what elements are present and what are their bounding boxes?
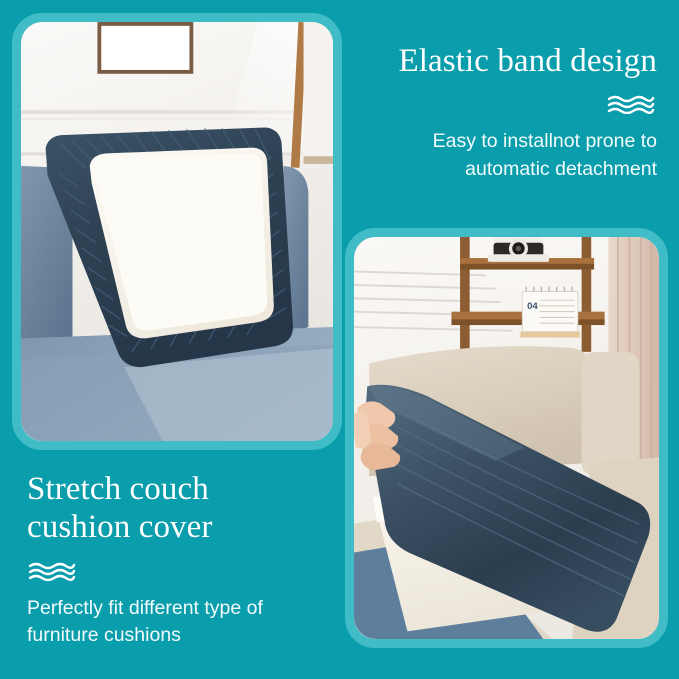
headline-stretch-couch-cushion-cover: Stretch couch cushion cover bbox=[27, 470, 327, 547]
wave-divider-icon bbox=[28, 562, 76, 581]
photo-image-top-left bbox=[21, 22, 333, 441]
product-photo-top-left bbox=[12, 13, 342, 450]
panel-top-right: Elastic band design Easy to installnot p… bbox=[365, 42, 657, 184]
svg-text:04: 04 bbox=[527, 301, 538, 312]
subtext-bottom-left: Perfectly fit different type of furnitur… bbox=[27, 595, 327, 650]
hand-stretching-cover-illustration: 04 bbox=[354, 237, 659, 639]
wave-divider-icon bbox=[607, 95, 655, 114]
product-photo-bottom-right: 04 bbox=[345, 228, 668, 648]
poster-background: 04 bbox=[0, 0, 679, 679]
living-room-cushion-illustration bbox=[21, 22, 333, 441]
panel-bottom-left: Stretch couch cushion cover Perfectly fi… bbox=[27, 470, 327, 650]
photo-image-bottom-right: 04 bbox=[354, 237, 659, 639]
headline-elastic-band-design: Elastic band design bbox=[365, 42, 657, 80]
subtext-top-right: Easy to installnot prone to automatic de… bbox=[365, 128, 657, 183]
